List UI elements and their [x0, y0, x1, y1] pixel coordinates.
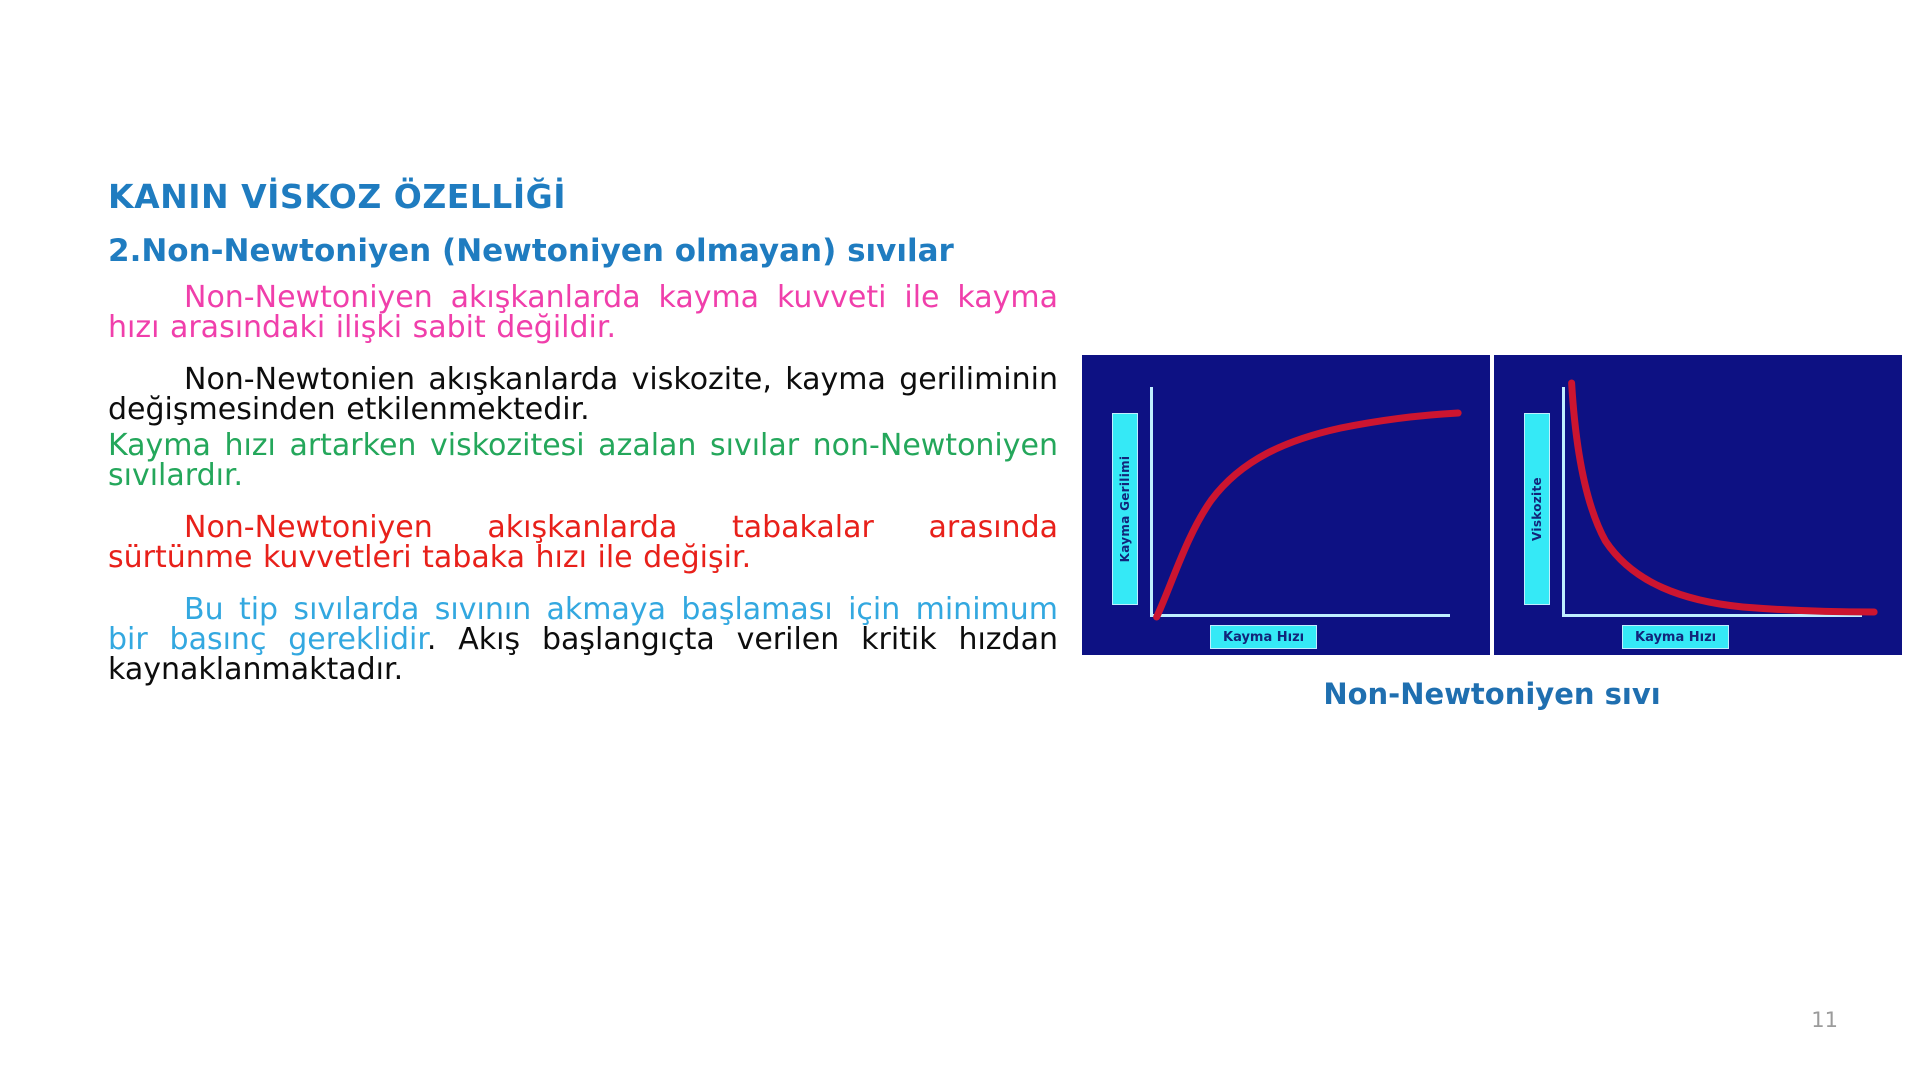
chart-shear-stress-curve	[1082, 355, 1490, 655]
paragraph-red: Non-Newtoniyen akışkanlarda tabakalar ar…	[108, 513, 1058, 573]
paragraph-pink: Non-Newtoniyen akışkanlarda kayma kuvvet…	[108, 283, 1058, 343]
section-subtitle: 2.Non-Newtoniyen (Newtoniyen olmayan) sı…	[108, 235, 1058, 268]
chart-viscosity-curve	[1494, 355, 1902, 655]
text-column: KANIN VİSKOZ ÖZELLİĞİ 2.Non-Newtoniyen (…	[108, 180, 1058, 691]
page-number: 11	[1811, 1008, 1838, 1032]
page-title: KANIN VİSKOZ ÖZELLİĞİ	[108, 180, 1058, 215]
chart-viscosity: Viskozite Kayma Hızı	[1494, 355, 1902, 655]
paragraph-black-1: Non-Newtonien akışkanlarda viskozite, ka…	[108, 365, 1058, 425]
chart-shear-stress: Kayma Gerilimi Kayma Hızı	[1082, 355, 1490, 655]
paragraph-green: Kayma hızı artarken viskozitesi azalan s…	[108, 431, 1058, 491]
figure-caption: Non-Newtoniyen sıvı	[1082, 677, 1902, 711]
figure-block: Kayma Gerilimi Kayma Hızı Viskozite	[1082, 355, 1902, 711]
slide-canvas: KANIN VİSKOZ ÖZELLİĞİ 2.Non-Newtoniyen (…	[0, 0, 1920, 1080]
chart-viscosity-xlabel: Kayma Hızı	[1622, 625, 1729, 649]
paragraph-mixed: Bu tip sıvılarda sıvının akmaya başlamas…	[108, 595, 1058, 685]
chart-shear-stress-xlabel: Kayma Hızı	[1210, 625, 1317, 649]
chart-pair: Kayma Gerilimi Kayma Hızı Viskozite	[1082, 355, 1902, 655]
